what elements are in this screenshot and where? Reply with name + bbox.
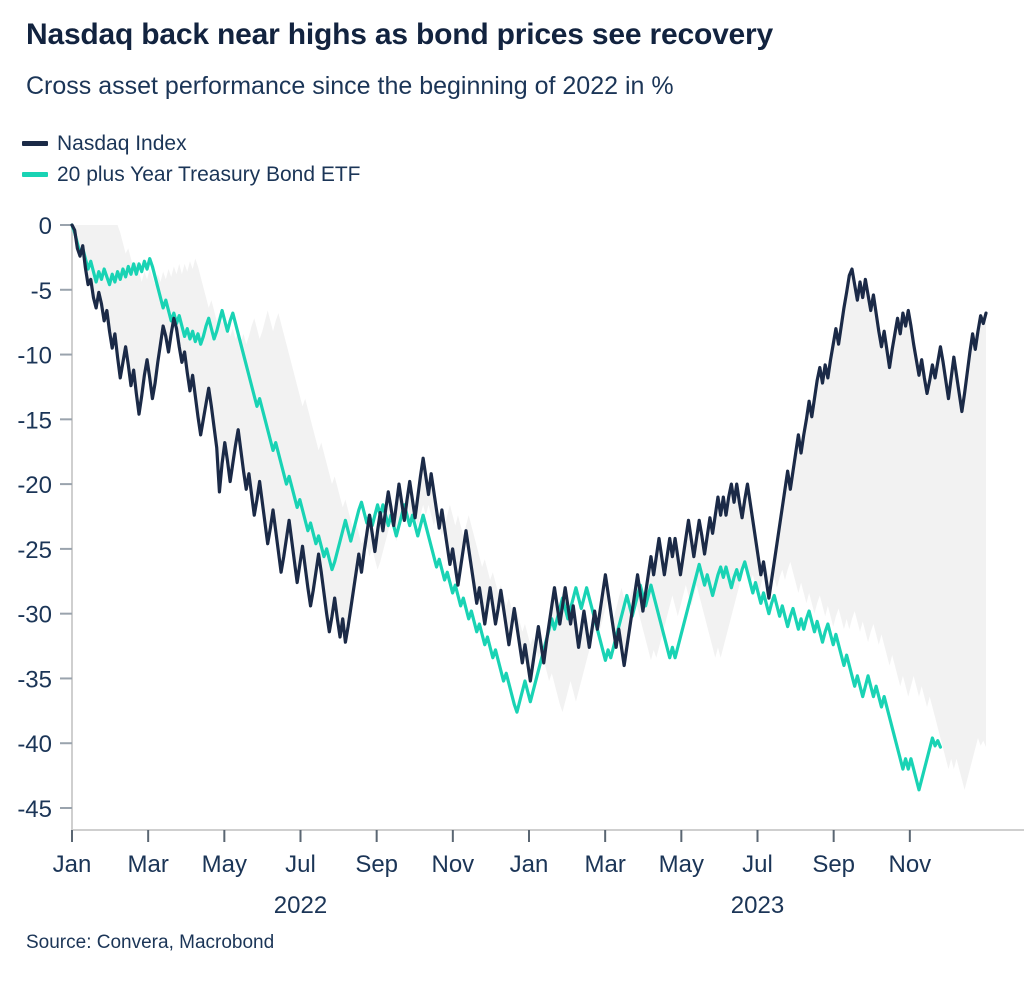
y-tick-label: -40 — [17, 731, 52, 758]
x-tick-label: Jul — [742, 851, 773, 878]
y-tick-label: -45 — [17, 796, 52, 823]
x-tick-label: Sep — [812, 851, 855, 878]
x-tick-label: Jan — [510, 851, 549, 878]
x-tick-label: Sep — [355, 851, 398, 878]
source-note: Source: Convera, Macrobond — [26, 932, 274, 954]
y-tick-label: -10 — [17, 343, 52, 370]
x-tick-label: Nov — [431, 851, 474, 878]
x-tick-label: Jul — [285, 851, 316, 878]
y-tick-label: -35 — [17, 666, 52, 693]
plot-area: 0-5-10-15-20-25-30-35-40-45JanMarMayJulS… — [0, 0, 1024, 981]
y-tick-label: 0 — [39, 213, 52, 240]
x-tick-label: Mar — [584, 851, 625, 878]
x-tick-label: Mar — [127, 851, 168, 878]
fill-between-band — [72, 225, 986, 790]
x-tick-label: Nov — [888, 851, 931, 878]
x-axis-year-label: 2022 — [274, 892, 327, 919]
x-tick-label: May — [202, 851, 247, 878]
x-tick-label: May — [659, 851, 704, 878]
series-fill-band — [72, 225, 986, 790]
y-tick-label: -15 — [17, 407, 52, 434]
y-tick-label: -30 — [17, 602, 52, 629]
y-tick-label: -25 — [17, 537, 52, 564]
x-axis-year-label: 2023 — [731, 892, 784, 919]
y-tick-label: -20 — [17, 472, 52, 499]
y-tick-label: -5 — [31, 278, 52, 305]
chart-figure: Nasdaq back near highs as bond prices se… — [0, 0, 1024, 981]
x-tick-label: Jan — [53, 851, 92, 878]
chart-svg: 0-5-10-15-20-25-30-35-40-45JanMarMayJulS… — [0, 0, 1024, 981]
